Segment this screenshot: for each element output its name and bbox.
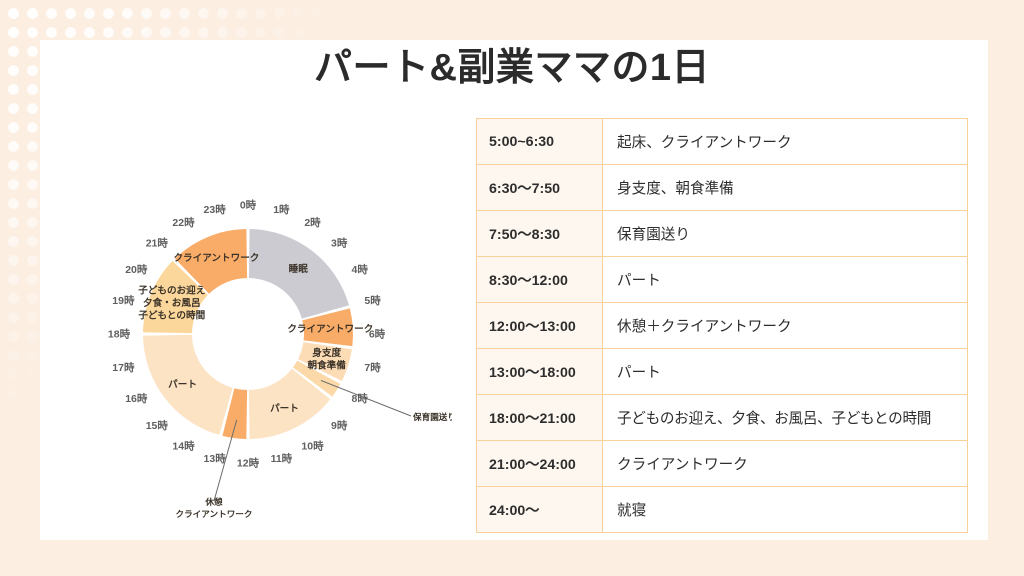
donut-hour-tick: 0時	[240, 199, 257, 212]
schedule-time-cell: 5:00~6:30	[477, 119, 603, 165]
donut-hour-tick: 6時	[369, 328, 386, 341]
schedule-activity-cell: パート	[603, 349, 968, 395]
donut-slice-label: 睡眠	[289, 263, 309, 275]
donut-slice-label: クライアントワーク	[287, 324, 373, 335]
donut-hour-tick: 10時	[301, 439, 324, 452]
table-row: 21:00〜24:00クライアントワーク	[477, 441, 968, 487]
donut-slice-label: パート	[168, 379, 197, 391]
schedule-activity-cell: 休憩＋クライアントワーク	[603, 303, 968, 349]
slide-canvas: パート&副業ママの1日 睡眠クライアントワーク身支度朝食準備パートパート子どもの…	[0, 0, 1024, 576]
donut-hour-tick: 8時	[352, 392, 369, 405]
donut-hour-tick: 19時	[112, 294, 135, 307]
schedule-time-cell: 8:30〜12:00	[477, 257, 603, 303]
donut-slice-label: パート	[270, 402, 299, 414]
table-row: 13:00〜18:00パート	[477, 349, 968, 395]
table-row: 5:00~6:30起床、クライアントワーク	[477, 119, 968, 165]
donut-hour-tick: 18時	[108, 328, 131, 341]
schedule-time-cell: 7:50〜8:30	[477, 211, 603, 257]
donut-hour-tick: 13時	[204, 452, 227, 465]
donut-hour-tick: 21時	[146, 236, 169, 249]
donut-chart: 睡眠クライアントワーク身支度朝食準備パートパート子どものお迎え夕食・お風呂子ども…	[52, 110, 452, 560]
donut-slice-label: クライアントワーク	[173, 253, 259, 264]
schedule-activity-cell: 保育園送り	[603, 211, 968, 257]
donut-callout-label: 休憩	[204, 496, 223, 507]
donut-slice-label: 子どもとの時間	[138, 309, 205, 321]
donut-hour-tick: 17時	[112, 361, 135, 374]
donut-slice-label: 夕食・お風呂	[143, 297, 201, 309]
donut-hour-tick: 15時	[146, 419, 169, 432]
schedule-table-body: 5:00~6:30起床、クライアントワーク6:30〜7:50身支度、朝食準備7:…	[477, 119, 968, 533]
donut-hour-tick: 20時	[125, 263, 148, 276]
schedule-activity-cell: 身支度、朝食準備	[603, 165, 968, 211]
donut-hour-tick: 2時	[304, 216, 321, 229]
table-row: 18:00〜21:00子どものお迎え、夕食、お風呂、子どもとの時間	[477, 395, 968, 441]
donut-hour-tick: 4時	[352, 263, 369, 276]
frame-band-top	[0, 0, 1024, 40]
table-row: 24:00〜就寝	[477, 487, 968, 533]
donut-hour-tick: 14時	[172, 439, 195, 452]
donut-callout-label: 保育園送り	[412, 411, 452, 422]
schedule-activity-cell: 起床、クライアントワーク	[603, 119, 968, 165]
page-title: パート&副業ママの1日	[0, 36, 1024, 91]
table-row: 12:00〜13:00休憩＋クライアントワーク	[477, 303, 968, 349]
donut-hour-tick: 7時	[364, 361, 381, 374]
donut-slice-label: 身支度	[312, 347, 341, 359]
schedule-time-cell: 24:00〜	[477, 487, 603, 533]
donut-slice-label: 朝食準備	[307, 359, 346, 371]
donut-callout-label: クライアントワーク	[175, 509, 252, 519]
schedule-time-cell: 21:00〜24:00	[477, 441, 603, 487]
donut-hour-tick: 1時	[273, 203, 290, 216]
schedule-activity-cell: 就寝	[603, 487, 968, 533]
schedule-activity-cell: クライアントワーク	[603, 441, 968, 487]
donut-hour-tick: 23時	[204, 203, 227, 216]
schedule-time-cell: 18:00〜21:00	[477, 395, 603, 441]
donut-hour-tick: 5時	[364, 294, 381, 307]
donut-hour-tick: 22時	[172, 216, 195, 229]
donut-slice-label: 子どものお迎え	[138, 284, 205, 296]
donut-hour-tick: 12時	[237, 457, 260, 470]
table-row: 6:30〜7:50身支度、朝食準備	[477, 165, 968, 211]
donut-hour-tick: 9時	[331, 419, 348, 432]
table-row: 7:50〜8:30保育園送り	[477, 211, 968, 257]
schedule-activity-cell: 子どものお迎え、夕食、お風呂、子どもとの時間	[603, 395, 968, 441]
schedule-time-cell: 6:30〜7:50	[477, 165, 603, 211]
schedule-activity-cell: パート	[603, 257, 968, 303]
schedule-time-cell: 12:00〜13:00	[477, 303, 603, 349]
donut-chart-svg: 睡眠クライアントワーク身支度朝食準備パートパート子どものお迎え夕食・お風呂子ども…	[52, 110, 452, 560]
table-row: 8:30〜12:00パート	[477, 257, 968, 303]
donut-hour-tick: 11時	[271, 452, 293, 465]
schedule-table: 5:00~6:30起床、クライアントワーク6:30〜7:50身支度、朝食準備7:…	[476, 118, 968, 533]
donut-hour-tick: 16時	[125, 392, 148, 405]
schedule-time-cell: 13:00〜18:00	[477, 349, 603, 395]
donut-hour-tick: 3時	[331, 236, 348, 249]
